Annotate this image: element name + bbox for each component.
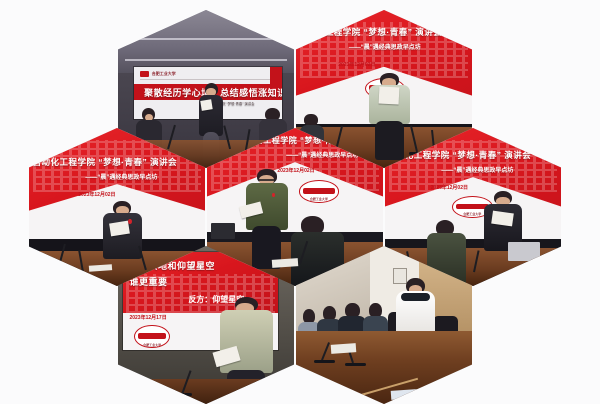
microphone-base — [345, 363, 366, 366]
collar — [401, 293, 430, 301]
screen-date: 2023年12月02日 — [338, 61, 375, 68]
logo-name: 合肥工业大学 — [135, 343, 169, 347]
screen-date: 2023年12月02日 — [78, 191, 115, 198]
screen-header-logo-text: 合肥工业大学 — [152, 71, 176, 77]
badge-icon — [128, 219, 131, 224]
conference-table — [296, 331, 472, 404]
paper-sheet — [200, 99, 213, 111]
university-mark-icon — [140, 71, 149, 77]
screen-divider — [140, 79, 276, 80]
university-logo: 合肥工业大学 — [134, 325, 170, 349]
logo-bar — [138, 333, 167, 339]
logo-bar — [303, 188, 336, 193]
paper-on-table — [331, 343, 356, 354]
ceiling-light — [125, 59, 287, 61]
microphone-base — [171, 393, 192, 396]
screen-red-corner — [270, 67, 282, 84]
paper-on-table — [391, 389, 418, 400]
table — [118, 379, 294, 404]
university-logo: 合肥工业大学 — [299, 180, 340, 202]
person-speaker — [368, 73, 410, 158]
screen-title: 自动化工程学院 “梦想·青春” 演讲会 — [33, 156, 178, 168]
paper-sheet — [379, 86, 400, 104]
screen-header-logo: 合肥工业大学 — [140, 71, 176, 77]
microphone-base — [50, 270, 69, 273]
glasses-icon — [259, 179, 274, 181]
screen-date: 2023年12月02日 — [431, 184, 468, 191]
screen-subtitle: ——“晨”遇经典思政早点坊 — [349, 42, 421, 51]
person-speaker — [246, 169, 288, 267]
microphone-base — [314, 360, 335, 363]
laptop — [211, 223, 236, 239]
screen-title: 自动化工程学院 “梦想·青春” 演讲会 — [298, 26, 443, 38]
screen-subtitle: ——“晨”遇经典思政早点坊 — [85, 172, 157, 181]
ceiling-light — [132, 38, 280, 40]
legs — [375, 121, 404, 160]
person-speaker — [484, 191, 523, 279]
screen-date: 2023年12月17日 — [129, 314, 166, 321]
laptop — [508, 242, 540, 261]
hexagon-photo-collage: 合肥工业大学 聚散经历学心境 总结感悟涨知识 自动化工程学院 “梦想·青春” 演… — [0, 0, 600, 400]
logo-name: 合肥工业大学 — [300, 197, 339, 201]
screen-subtitle: ——“晨”遇经典思政早点坊 — [441, 165, 513, 174]
torso — [103, 213, 142, 259]
ceiling — [118, 10, 294, 73]
